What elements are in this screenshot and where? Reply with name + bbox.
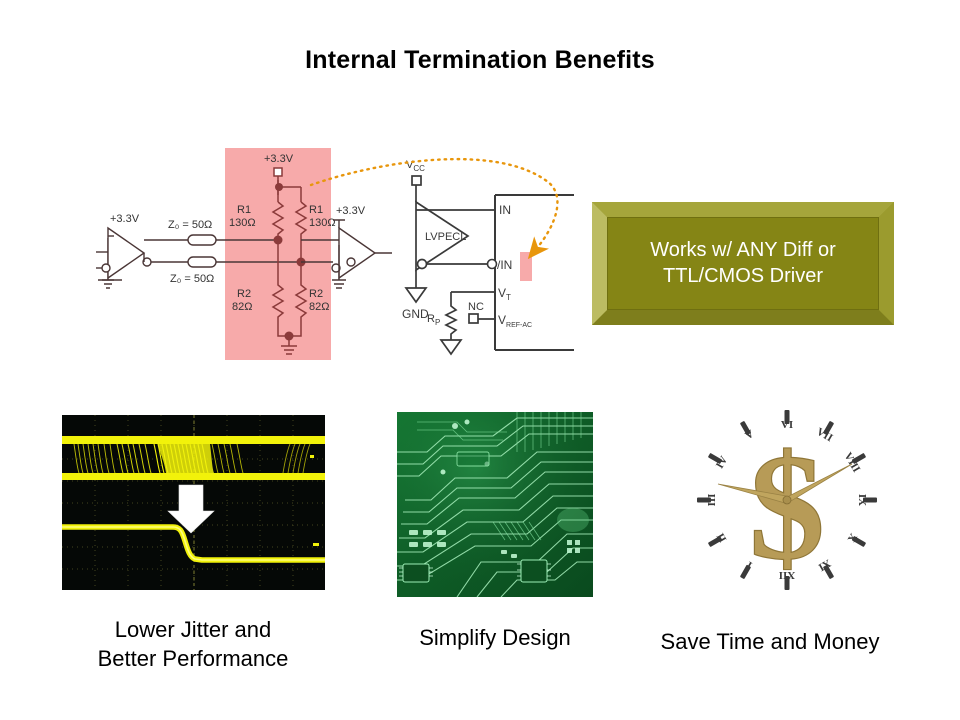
dollar-sign-glyph: $ bbox=[749, 423, 825, 591]
lvpecl-label: LVPECL bbox=[425, 231, 466, 243]
pcb-highlight bbox=[557, 508, 589, 532]
trace-bottom-label: Z₀ = 50Ω bbox=[170, 273, 214, 285]
r2-b-value: 82Ω bbox=[309, 301, 329, 313]
left-supply-label: +3.3V bbox=[110, 213, 140, 225]
r1-a-name: R1 bbox=[237, 204, 251, 216]
pin-in-label: IN bbox=[499, 203, 511, 217]
caption-simplify-design: Simplify Design bbox=[375, 623, 615, 652]
inb-pin-highlight bbox=[520, 252, 532, 281]
vcc-label: VCC bbox=[406, 159, 425, 173]
callout-bevel-left bbox=[592, 202, 607, 325]
circuit-diagram-svg: +3.3V Z₀ = 50Ω Z₀ = 50Ω bbox=[96, 140, 596, 375]
oscilloscope-image bbox=[62, 415, 325, 590]
r2-a-name: R2 bbox=[237, 288, 251, 300]
clock-svg: XII I II III IV V VI VII VIII IX X XI bbox=[676, 400, 898, 600]
clock-image: XII I II III IV V VI VII VIII IX X XI bbox=[676, 400, 898, 600]
callout-bevel-right bbox=[879, 202, 894, 325]
hand-hub bbox=[783, 496, 791, 504]
page-title: Internal Termination Benefits bbox=[0, 46, 960, 75]
r2-a-value: 82Ω bbox=[232, 301, 252, 313]
gnd-label: GND bbox=[402, 307, 429, 321]
callout-frame-inner: Works w/ ANY Diff or TTL/CMOS Driver bbox=[607, 217, 879, 310]
caption-lower-jitter: Lower Jitter and Better Performance bbox=[58, 615, 328, 673]
r2-b-name: R2 bbox=[309, 288, 323, 300]
right-supply-label: +3.3V bbox=[336, 205, 366, 217]
callout-bevel-top bbox=[592, 202, 894, 217]
termination-supply-label: +3.3V bbox=[264, 153, 294, 165]
inb-pin-bubble bbox=[488, 260, 497, 269]
slide-canvas: Internal Termination Benefits bbox=[0, 0, 960, 720]
rp-label: RP bbox=[427, 313, 440, 327]
circuit-diagram-figure: +3.3V Z₀ = 50Ω Z₀ = 50Ω bbox=[96, 140, 596, 375]
caption-save-time-money: Save Time and Money bbox=[620, 627, 920, 656]
pin-inb-label: /IN bbox=[497, 258, 512, 272]
r1-b-value: 130Ω bbox=[309, 217, 336, 229]
nc-label: NC bbox=[468, 301, 484, 313]
r1-a-value: 130Ω bbox=[229, 217, 256, 229]
oscilloscope-svg bbox=[62, 415, 325, 590]
callout-text: Works w/ ANY Diff or TTL/CMOS Driver bbox=[642, 238, 844, 289]
pcb-svg bbox=[397, 412, 593, 597]
svg-text:$: $ bbox=[749, 423, 825, 591]
callout-box: Works w/ ANY Diff or TTL/CMOS Driver bbox=[592, 202, 894, 325]
pin-vref-label: VREF-AC bbox=[498, 313, 532, 329]
callout-bevel-bottom bbox=[592, 310, 894, 325]
pin-vt-label: VT bbox=[498, 286, 511, 302]
r1-b-name: R1 bbox=[309, 204, 323, 216]
pcb-image bbox=[397, 412, 593, 597]
left-driver-symbol bbox=[96, 228, 168, 288]
trace-top-label: Z₀ = 50Ω bbox=[168, 219, 212, 231]
